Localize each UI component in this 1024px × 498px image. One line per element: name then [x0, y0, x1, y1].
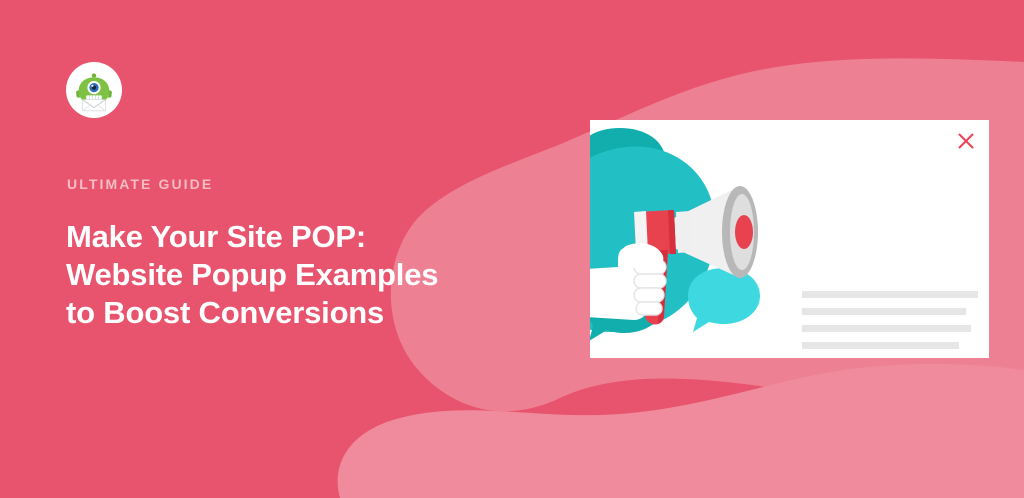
megaphone-announcement-icon — [590, 120, 770, 358]
close-button[interactable] — [953, 128, 979, 154]
headline-line-2: Website Popup Examples — [66, 256, 506, 294]
brand-logo-badge[interactable] — [66, 62, 122, 118]
headline-line-1: Make Your Site POP: — [66, 218, 506, 256]
skeleton-line — [802, 291, 978, 298]
monster-mascot-icon — [66, 62, 122, 118]
page-title: Make Your Site POP: Website Popup Exampl… — [66, 218, 506, 332]
skeleton-line — [802, 325, 971, 332]
hero-left-column: ULTIMATE GUIDE Make Your Site POP: Websi… — [66, 0, 526, 498]
skeleton-line — [802, 308, 966, 315]
hero-banner: ULTIMATE GUIDE Make Your Site POP: Websi… — [0, 0, 1024, 498]
skeleton-line — [802, 342, 959, 349]
close-icon — [958, 133, 974, 149]
popup-mockup-card — [590, 120, 989, 358]
eyebrow-label: ULTIMATE GUIDE — [67, 177, 213, 191]
headline-line-3: to Boost Conversions — [66, 294, 506, 332]
popup-content-skeleton — [802, 291, 978, 358]
popup-illustration-panel — [590, 120, 770, 358]
